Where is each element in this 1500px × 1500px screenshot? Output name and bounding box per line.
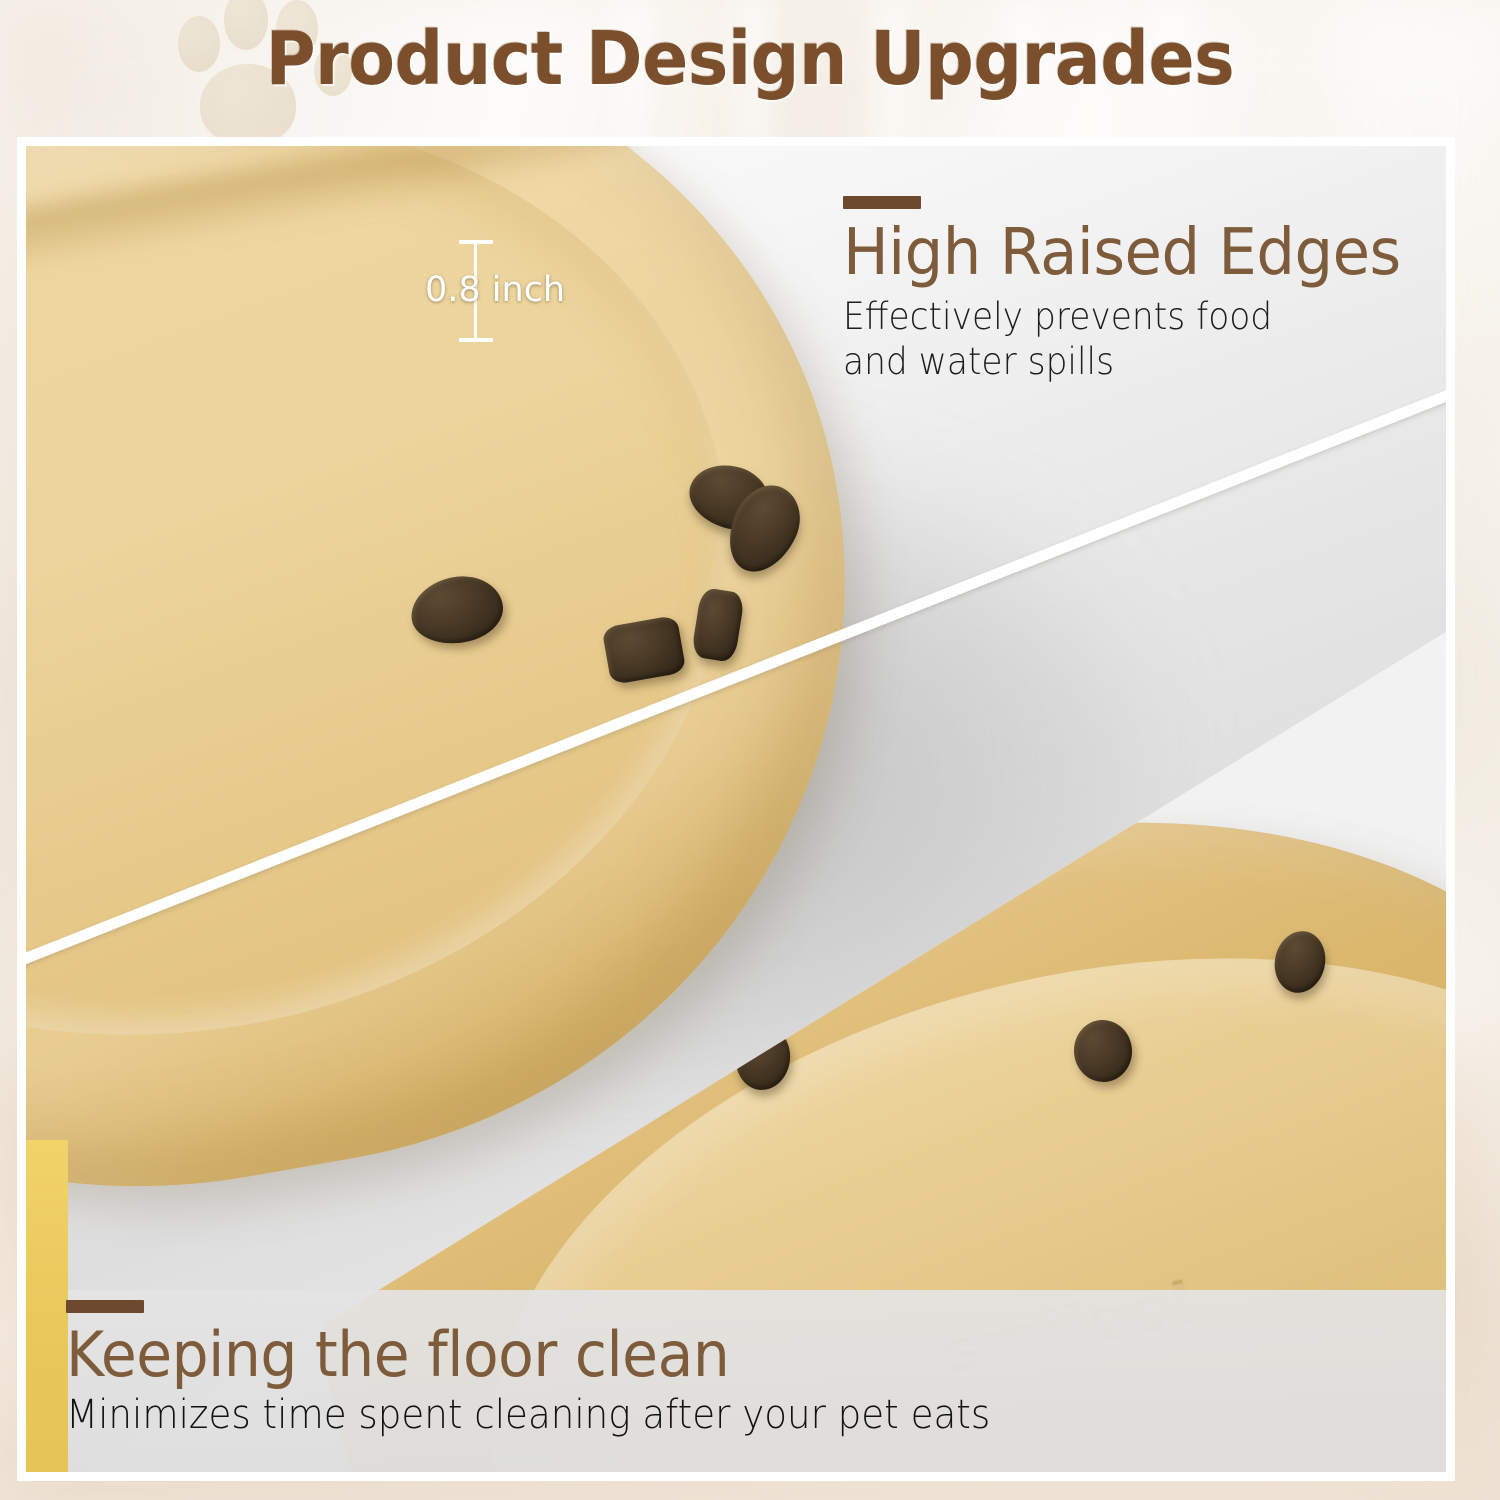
- feature-subtext-line: Effectively prevents food: [843, 294, 1410, 339]
- bowl-inner-surface: [26, 146, 801, 1122]
- page-title: Product Design Upgrades: [60, 16, 1440, 102]
- dimension-cap-bottom: [459, 338, 493, 342]
- left-accent-bar: [26, 1140, 68, 1472]
- feature-block-keeping-floor-clean: Keeping the floor clean Minimizes time s…: [66, 1300, 1296, 1438]
- header: Product Design Upgrades: [0, 0, 1500, 146]
- feature-block-high-raised-edges: High Raised Edges Effectively prevents f…: [843, 196, 1453, 385]
- dimension-label: 0.8 inch: [425, 270, 565, 310]
- product-infographic: Product Design Upgrades: [0, 0, 1500, 1500]
- feature-heading: Keeping the floor clean: [66, 1323, 1222, 1386]
- feature-subtext-line: and water spills: [843, 339, 1410, 384]
- accent-dash: [843, 196, 921, 209]
- feature-subtext: Minimizes time spent cleaning after your…: [66, 1392, 1210, 1438]
- accent-dash: [66, 1300, 144, 1313]
- dimension-callout: 0.8 inch: [455, 232, 655, 352]
- feature-heading: High Raised Edges: [843, 221, 1423, 286]
- feature-subtext: Effectively prevents food and water spil…: [843, 294, 1410, 384]
